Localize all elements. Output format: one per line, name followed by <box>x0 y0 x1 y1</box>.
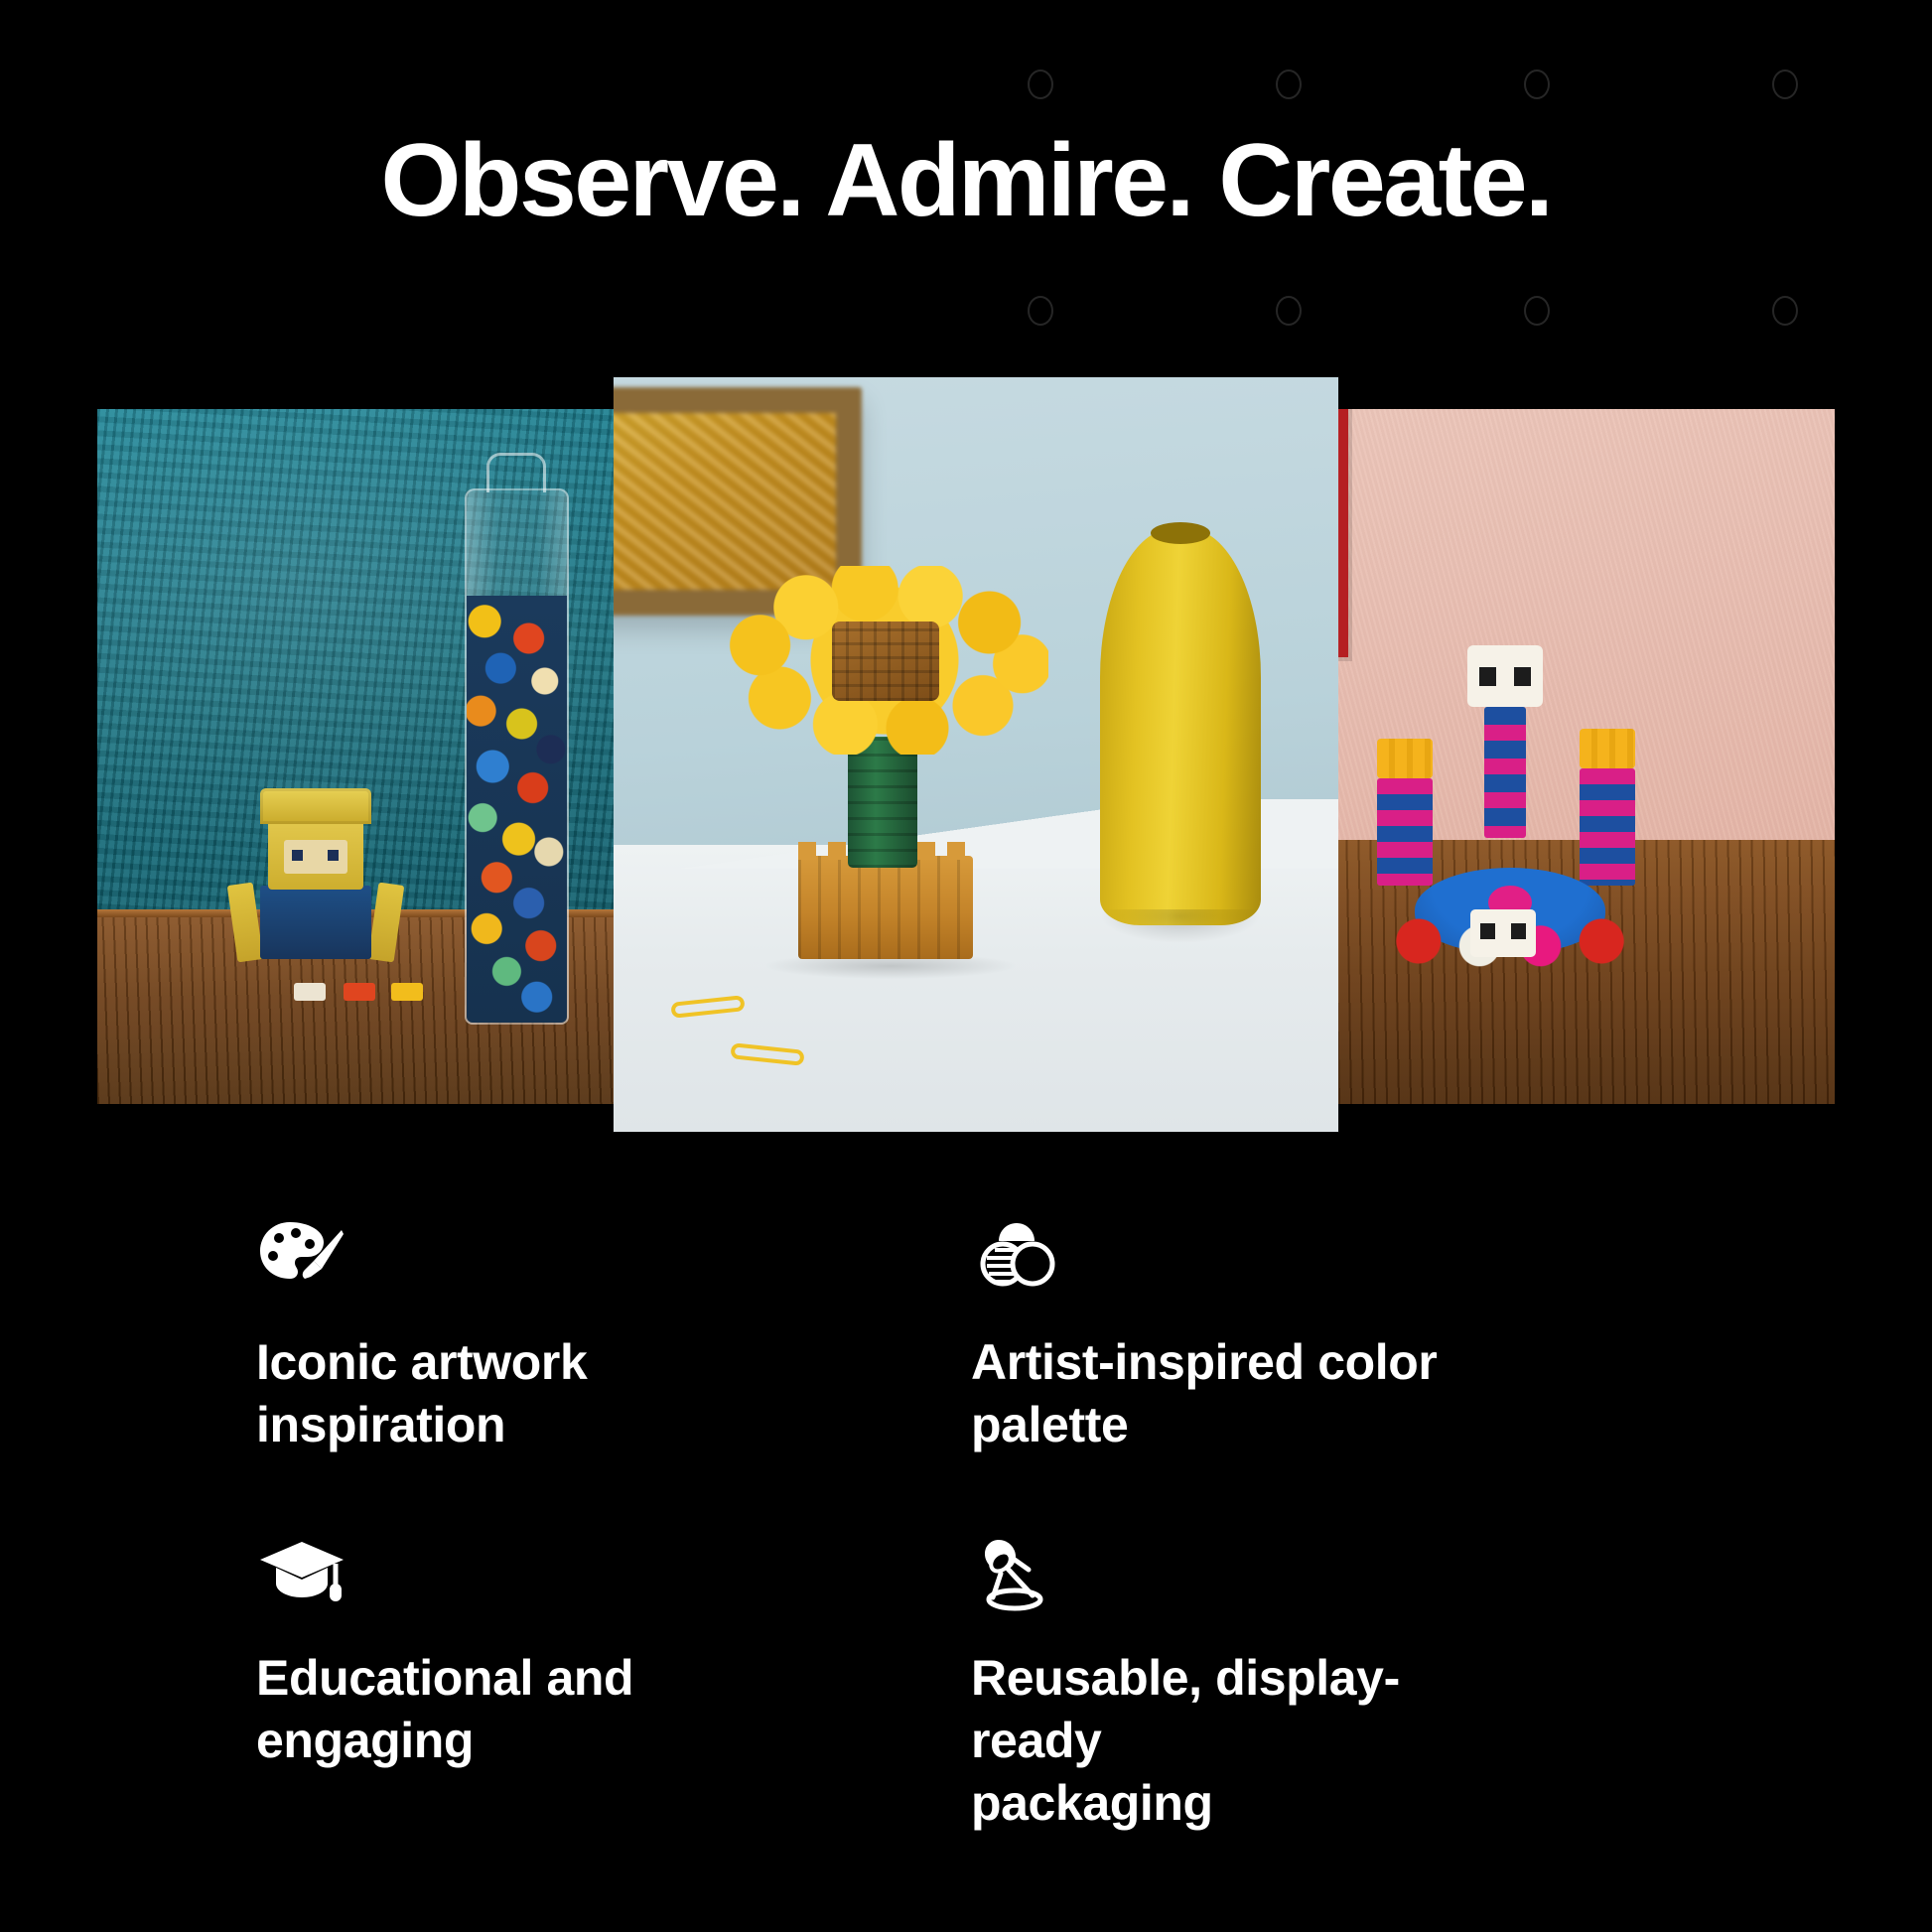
sunflower-center <box>832 621 939 701</box>
feature-packaging: Reusable, display-ready packaging <box>971 1522 1686 1835</box>
feature-label: Artist-inspired color palette <box>971 1331 1527 1456</box>
photo-right-block-build <box>1343 645 1671 963</box>
build-candle-left <box>1377 778 1433 886</box>
photo-center-hero <box>614 377 1338 1132</box>
feature-iconic-artwork: Iconic artwork inspiration <box>256 1206 971 1456</box>
figure-hat <box>260 788 371 824</box>
photo-left-block-figure <box>236 788 395 977</box>
figure-face <box>284 840 347 874</box>
pouring-tube-icon <box>971 1522 1062 1613</box>
photo-left-tube-handle <box>486 453 546 492</box>
photo-left-tube-contents <box>467 596 567 1023</box>
photo-center-yellow-vase <box>1100 528 1261 925</box>
loose-piece <box>294 983 326 1001</box>
photo-strip <box>0 0 1932 1152</box>
photo-left-piece-tube <box>465 488 569 1025</box>
sunflower-pot <box>798 856 973 959</box>
loose-piece <box>391 983 423 1001</box>
palette-brush-icon <box>256 1206 347 1298</box>
build-center-stem <box>1484 707 1526 838</box>
figure-eye-right <box>328 850 339 861</box>
loose-piece <box>344 983 375 1001</box>
feature-label: Reusable, display-ready packaging <box>971 1647 1527 1835</box>
build-flame-left <box>1377 739 1433 778</box>
feature-label: Iconic artwork inspiration <box>256 1331 693 1456</box>
build-flame-right <box>1580 729 1635 768</box>
build-skull-top <box>1467 645 1543 707</box>
sunflower-petals <box>721 566 1048 755</box>
figure-head <box>268 816 363 890</box>
color-swatches-icon <box>971 1206 1062 1298</box>
feature-color-palette: Artist-inspired color palette <box>971 1206 1686 1456</box>
build-skull-bottom <box>1470 909 1536 957</box>
sunflower-stem <box>848 737 917 868</box>
feature-grid: Iconic artwork inspiration Artist-inspir… <box>0 1206 1932 1835</box>
figure-body <box>260 886 371 959</box>
product-feature-panel: Observe. Admire. Create. <box>0 0 1932 1932</box>
photo-center-sunflower-build <box>721 566 1048 983</box>
feature-educational: Educational and engaging <box>256 1522 971 1835</box>
graduation-cap-icon <box>256 1522 347 1613</box>
figure-eye-left <box>292 850 303 861</box>
build-candle-right <box>1580 768 1635 886</box>
feature-label: Educational and engaging <box>256 1647 693 1772</box>
